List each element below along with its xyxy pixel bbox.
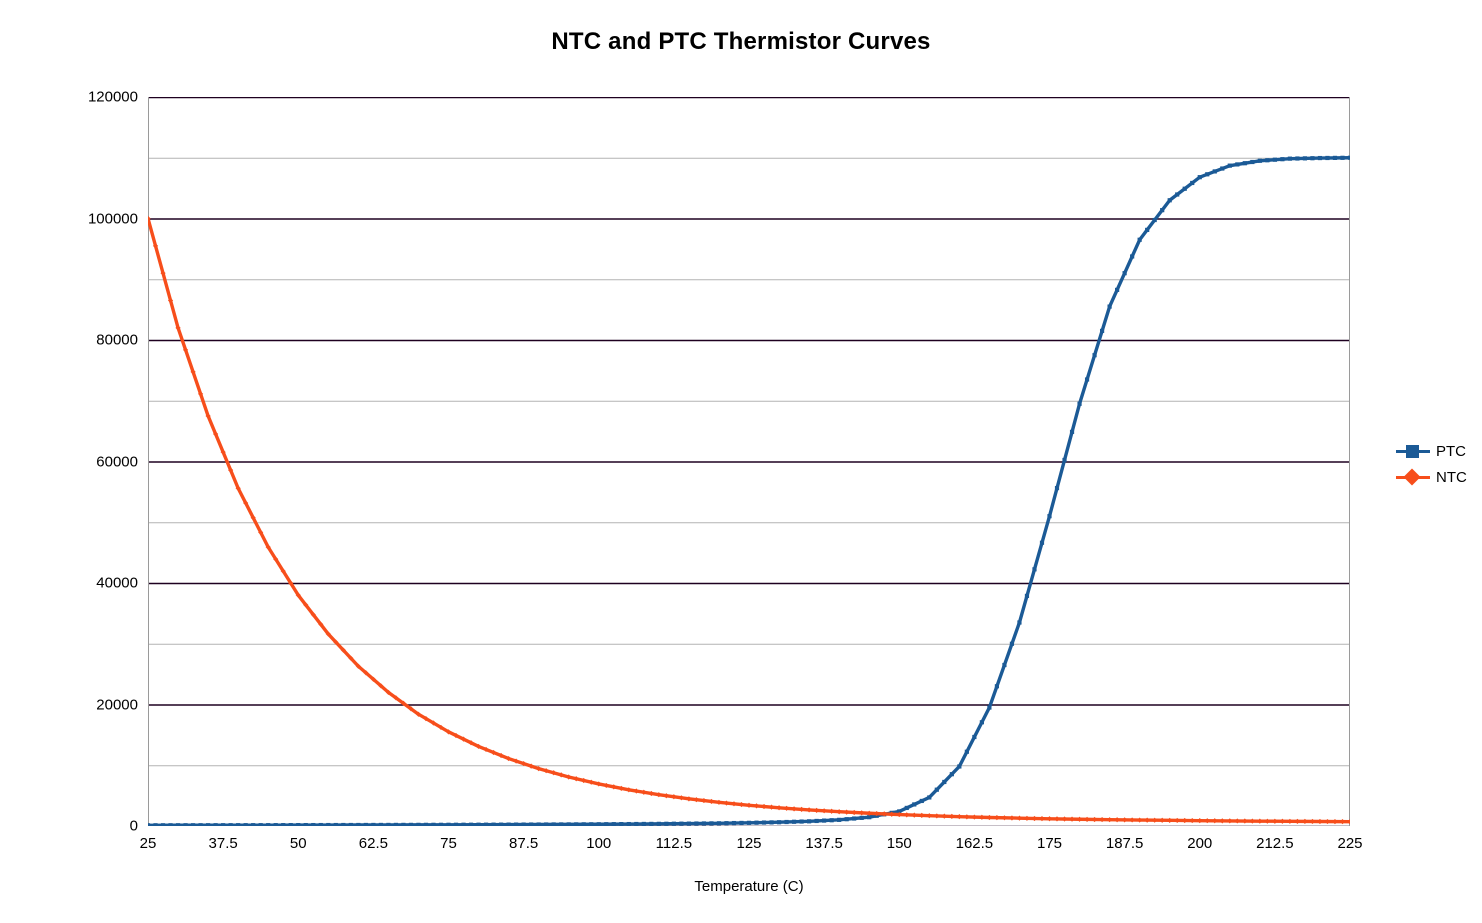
series-marker bbox=[1340, 156, 1344, 160]
series-marker bbox=[702, 821, 706, 825]
series-marker bbox=[687, 822, 691, 826]
series-marker bbox=[1250, 818, 1255, 823]
series-marker bbox=[994, 815, 999, 820]
series-marker bbox=[949, 814, 954, 819]
series-marker bbox=[251, 823, 255, 826]
series-marker bbox=[942, 814, 947, 819]
series-marker bbox=[1257, 819, 1262, 824]
x-axis-tick-label: 225 bbox=[1337, 835, 1362, 852]
series-marker bbox=[912, 802, 916, 806]
series-marker bbox=[1092, 817, 1097, 822]
series-marker bbox=[980, 720, 984, 724]
series-marker bbox=[1295, 819, 1300, 824]
series-marker bbox=[1108, 304, 1112, 308]
series-marker bbox=[1318, 156, 1322, 160]
chart-legend: PTCNTC bbox=[1396, 438, 1482, 490]
series-marker bbox=[1032, 816, 1037, 821]
series-marker bbox=[371, 823, 375, 826]
series-marker bbox=[1032, 567, 1036, 571]
legend-item-ntc[interactable]: NTC bbox=[1396, 464, 1482, 490]
series-marker bbox=[1333, 156, 1337, 160]
series-marker bbox=[724, 821, 728, 825]
series-marker bbox=[950, 772, 954, 776]
series-marker bbox=[1138, 238, 1142, 242]
series-marker bbox=[1175, 192, 1179, 196]
series-marker bbox=[416, 823, 420, 826]
series-marker bbox=[987, 705, 991, 709]
series-marker bbox=[995, 684, 999, 688]
series-marker bbox=[672, 822, 676, 826]
x-axis-tick-labels: 2537.55062.57587.5100112.5125137.5150162… bbox=[148, 835, 1350, 859]
series-marker bbox=[792, 820, 796, 824]
series-marker bbox=[1242, 818, 1247, 823]
y-axis-tick-labels: 020000400006000080000100000120000 bbox=[0, 97, 138, 826]
series-marker bbox=[1220, 166, 1224, 170]
series-marker bbox=[364, 823, 368, 826]
series-marker bbox=[153, 823, 157, 826]
series-marker bbox=[1205, 172, 1209, 176]
series-marker bbox=[446, 823, 450, 826]
series-marker bbox=[1295, 156, 1299, 160]
series-marker bbox=[1070, 430, 1074, 434]
series-marker bbox=[859, 810, 864, 815]
series-marker bbox=[627, 822, 631, 826]
series-marker bbox=[1047, 514, 1051, 518]
series-marker bbox=[829, 809, 834, 814]
series-marker bbox=[1122, 817, 1127, 822]
series-marker bbox=[1084, 817, 1089, 822]
x-axis-tick-label: 137.5 bbox=[805, 835, 843, 852]
legend-item-ptc[interactable]: PTC bbox=[1396, 438, 1482, 464]
series-marker bbox=[1047, 816, 1052, 821]
series-marker bbox=[544, 822, 548, 826]
series-marker bbox=[1302, 819, 1307, 824]
x-axis-tick-label: 175 bbox=[1037, 835, 1062, 852]
series-marker bbox=[972, 814, 977, 819]
series-marker bbox=[784, 820, 788, 824]
series-marker bbox=[1235, 818, 1240, 823]
series-marker bbox=[912, 813, 917, 818]
series-marker bbox=[612, 822, 616, 826]
series-marker bbox=[1137, 817, 1142, 822]
series-marker bbox=[1205, 818, 1210, 823]
y-axis-tick-label: 100000 bbox=[88, 210, 138, 227]
series-marker bbox=[326, 823, 330, 826]
series-marker bbox=[1039, 816, 1044, 821]
series-marker bbox=[815, 819, 819, 823]
series-marker bbox=[1228, 164, 1232, 168]
series-marker bbox=[1332, 819, 1337, 824]
series-marker bbox=[777, 820, 781, 824]
series-marker bbox=[1002, 815, 1007, 820]
series-marker bbox=[642, 822, 646, 826]
series-marker bbox=[852, 810, 857, 815]
x-axis-tick-label: 187.5 bbox=[1106, 835, 1144, 852]
series-marker bbox=[244, 823, 248, 826]
series-marker bbox=[236, 823, 240, 826]
series-marker bbox=[1130, 817, 1135, 822]
series-marker bbox=[1153, 218, 1157, 222]
y-axis-tick-label: 120000 bbox=[88, 89, 138, 106]
series-marker bbox=[311, 823, 315, 826]
legend-square-icon bbox=[1396, 442, 1430, 460]
series-marker bbox=[814, 808, 819, 813]
series-marker bbox=[229, 823, 233, 826]
series-marker bbox=[649, 822, 653, 826]
series-marker bbox=[1145, 818, 1150, 823]
series-marker bbox=[1145, 228, 1149, 232]
series-markers-ntc bbox=[148, 216, 1350, 824]
series-marker bbox=[1198, 175, 1202, 179]
series-marker bbox=[860, 816, 864, 820]
series-marker bbox=[664, 822, 668, 826]
series-marker bbox=[927, 813, 932, 818]
series-marker bbox=[266, 823, 270, 826]
series-marker bbox=[905, 806, 909, 810]
x-axis-tick-label: 37.5 bbox=[209, 835, 238, 852]
series-marker bbox=[1250, 160, 1254, 164]
series-marker bbox=[1280, 819, 1285, 824]
series-marker bbox=[476, 823, 480, 826]
series-marker bbox=[319, 823, 323, 826]
series-marker bbox=[191, 823, 195, 826]
series-marker bbox=[1009, 815, 1014, 820]
series-marker bbox=[379, 823, 383, 826]
series-marker bbox=[424, 823, 428, 826]
series-marker bbox=[845, 817, 849, 821]
series-marker bbox=[1310, 156, 1314, 160]
series-markers-ptc bbox=[148, 156, 1350, 826]
series-marker bbox=[1348, 156, 1350, 160]
series-marker bbox=[694, 821, 698, 825]
series-marker bbox=[1085, 377, 1089, 381]
plot-area bbox=[148, 97, 1350, 826]
series-marker bbox=[1287, 819, 1292, 824]
series-marker bbox=[1235, 162, 1239, 166]
series-marker bbox=[769, 820, 773, 824]
series-marker bbox=[559, 822, 563, 826]
series-marker bbox=[1002, 663, 1006, 667]
series-marker bbox=[1017, 620, 1021, 624]
series-marker bbox=[1107, 817, 1112, 822]
series-marker bbox=[1325, 156, 1329, 160]
series-marker bbox=[747, 821, 751, 825]
series-marker bbox=[1115, 288, 1119, 292]
series-marker bbox=[514, 822, 518, 826]
x-axis-tick-label: 125 bbox=[736, 835, 761, 852]
y-axis-tick-label: 0 bbox=[130, 818, 138, 835]
series-marker bbox=[1168, 198, 1172, 202]
series-marker bbox=[214, 823, 218, 826]
series-marker bbox=[822, 808, 827, 813]
series-marker bbox=[597, 822, 601, 826]
series-marker bbox=[198, 823, 202, 826]
series-marker bbox=[1213, 169, 1217, 173]
series-marker bbox=[529, 822, 533, 826]
series-marker bbox=[1055, 486, 1059, 490]
series-marker bbox=[439, 823, 443, 826]
series-marker bbox=[837, 818, 841, 822]
series-marker bbox=[919, 813, 924, 818]
legend-label: NTC bbox=[1436, 469, 1467, 486]
series-marker bbox=[619, 822, 623, 826]
series-marker bbox=[1040, 541, 1044, 545]
series-marker bbox=[499, 823, 503, 826]
series-marker bbox=[176, 823, 180, 826]
series-marker bbox=[1310, 819, 1315, 824]
x-axis-tick-label: 150 bbox=[887, 835, 912, 852]
series-marker bbox=[1160, 818, 1165, 823]
series-marker bbox=[484, 823, 488, 826]
series-marker bbox=[589, 822, 593, 826]
series-marker bbox=[904, 812, 909, 817]
series-line-ptc bbox=[148, 158, 1350, 826]
series-marker bbox=[161, 823, 165, 826]
legend-label: PTC bbox=[1436, 443, 1466, 460]
series-marker bbox=[148, 823, 150, 826]
series-marker bbox=[567, 822, 571, 826]
series-marker bbox=[942, 780, 946, 784]
series-marker bbox=[1280, 157, 1284, 161]
series-marker bbox=[334, 823, 338, 826]
series-marker bbox=[1303, 156, 1307, 160]
series-marker bbox=[1197, 818, 1202, 823]
series-marker bbox=[409, 823, 413, 826]
series-marker bbox=[507, 823, 511, 826]
y-axis-tick-label: 60000 bbox=[96, 453, 138, 470]
series-marker bbox=[822, 818, 826, 822]
series-marker bbox=[807, 819, 811, 823]
x-axis-tick-label: 50 bbox=[290, 835, 307, 852]
x-axis-title: Temperature (C) bbox=[148, 878, 1350, 895]
x-axis-tick-label: 212.5 bbox=[1256, 835, 1294, 852]
series-marker bbox=[1243, 161, 1247, 165]
series-marker bbox=[1347, 819, 1350, 824]
series-marker bbox=[867, 811, 872, 816]
series-marker bbox=[1340, 819, 1345, 824]
series-marker bbox=[1130, 254, 1134, 258]
series-marker bbox=[799, 819, 803, 823]
series-marker bbox=[356, 823, 360, 826]
y-axis-tick-label: 20000 bbox=[96, 696, 138, 713]
series-marker bbox=[341, 823, 345, 826]
series-marker bbox=[1182, 818, 1187, 823]
series-marker bbox=[1288, 157, 1292, 161]
series-marker bbox=[552, 822, 556, 826]
series-marker bbox=[1272, 819, 1277, 824]
series-marker bbox=[401, 823, 405, 826]
series-line-ntc bbox=[148, 219, 1350, 822]
series-marker bbox=[957, 764, 961, 768]
series-marker bbox=[927, 795, 931, 799]
series-marker bbox=[168, 823, 172, 826]
x-axis-tick-label: 75 bbox=[440, 835, 457, 852]
series-marker bbox=[837, 809, 842, 814]
series-marker bbox=[281, 823, 285, 826]
series-marker bbox=[762, 820, 766, 824]
series-marker bbox=[394, 823, 398, 826]
series-marker bbox=[1265, 158, 1269, 162]
series-marker bbox=[1077, 817, 1082, 822]
series-marker bbox=[1220, 818, 1225, 823]
series-marker bbox=[1115, 817, 1120, 822]
series-marker bbox=[844, 810, 849, 815]
series-marker bbox=[221, 823, 225, 826]
series-marker bbox=[979, 815, 984, 820]
series-marker bbox=[679, 822, 683, 826]
x-axis-tick-label: 87.5 bbox=[509, 835, 538, 852]
series-marker bbox=[1190, 181, 1194, 185]
series-marker bbox=[1273, 158, 1277, 162]
series-marker bbox=[957, 814, 962, 819]
x-axis-tick-label: 200 bbox=[1187, 835, 1212, 852]
series-marker bbox=[537, 822, 541, 826]
series-marker bbox=[386, 823, 390, 826]
series-marker bbox=[582, 822, 586, 826]
series-marker bbox=[1325, 819, 1330, 824]
series-marker bbox=[1212, 818, 1217, 823]
x-axis-tick-label: 100 bbox=[586, 835, 611, 852]
series-marker bbox=[1062, 458, 1066, 462]
series-marker bbox=[469, 823, 473, 826]
legend-diamond-icon bbox=[1396, 468, 1430, 486]
series-marker bbox=[491, 823, 495, 826]
series-marker bbox=[852, 816, 856, 820]
series-marker bbox=[1099, 817, 1104, 822]
series-marker bbox=[274, 823, 278, 826]
series-marker bbox=[732, 821, 736, 825]
series-marker bbox=[1054, 816, 1059, 821]
series-marker bbox=[709, 821, 713, 825]
series-marker bbox=[1152, 818, 1157, 823]
series-marker bbox=[717, 821, 721, 825]
series-marker bbox=[1069, 817, 1074, 822]
series-marker bbox=[920, 799, 924, 803]
series-marker bbox=[1258, 159, 1262, 163]
series-marker bbox=[1175, 818, 1180, 823]
series-marker bbox=[1062, 816, 1067, 821]
series-marker bbox=[1077, 402, 1081, 406]
series-marker bbox=[206, 823, 210, 826]
series-marker bbox=[1025, 594, 1029, 598]
series-marker bbox=[1092, 353, 1096, 357]
series-marker bbox=[296, 823, 300, 826]
series-marker bbox=[1167, 818, 1172, 823]
series-marker bbox=[1010, 642, 1014, 646]
series-marker bbox=[754, 821, 758, 825]
series-marker bbox=[987, 815, 992, 820]
series-marker bbox=[1017, 816, 1022, 821]
x-axis-tick-label: 112.5 bbox=[656, 835, 692, 852]
series-marker bbox=[454, 823, 458, 826]
series-marker bbox=[289, 823, 293, 826]
series-marker bbox=[657, 822, 661, 826]
series-marker bbox=[522, 822, 526, 826]
series-marker bbox=[574, 822, 578, 826]
series-marker bbox=[739, 821, 743, 825]
series-marker bbox=[1317, 819, 1322, 824]
y-axis-tick-label: 40000 bbox=[96, 575, 138, 592]
series-marker bbox=[1227, 818, 1232, 823]
series-marker bbox=[1183, 187, 1187, 191]
series-marker bbox=[634, 822, 638, 826]
series-marker bbox=[1265, 819, 1270, 824]
series-marker bbox=[183, 823, 187, 826]
series-marker bbox=[259, 823, 263, 826]
series-marker bbox=[935, 788, 939, 792]
series-marker bbox=[1123, 271, 1127, 275]
series-marker bbox=[1160, 208, 1164, 212]
series-marker bbox=[830, 818, 834, 822]
chart-title: NTC and PTC Thermistor Curves bbox=[0, 28, 1482, 56]
series-marker bbox=[972, 735, 976, 739]
series-marker bbox=[1024, 816, 1029, 821]
series-marker bbox=[349, 823, 353, 826]
plot-svg bbox=[148, 97, 1350, 826]
series-marker bbox=[304, 823, 308, 826]
chart-container: NTC and PTC Thermistor Curves Resistance… bbox=[0, 0, 1482, 923]
series-marker bbox=[965, 750, 969, 754]
series-marker bbox=[1190, 818, 1195, 823]
series-marker bbox=[964, 814, 969, 819]
x-axis-tick-label: 62.5 bbox=[359, 835, 388, 852]
y-axis-tick-label: 80000 bbox=[96, 332, 138, 349]
series-marker bbox=[1100, 329, 1104, 333]
series-marker bbox=[604, 822, 608, 826]
x-axis-tick-label: 162.5 bbox=[956, 835, 994, 852]
x-axis-tick-label: 25 bbox=[140, 835, 157, 852]
series-marker bbox=[934, 813, 939, 818]
series-marker bbox=[431, 823, 435, 826]
series-marker bbox=[461, 823, 465, 826]
